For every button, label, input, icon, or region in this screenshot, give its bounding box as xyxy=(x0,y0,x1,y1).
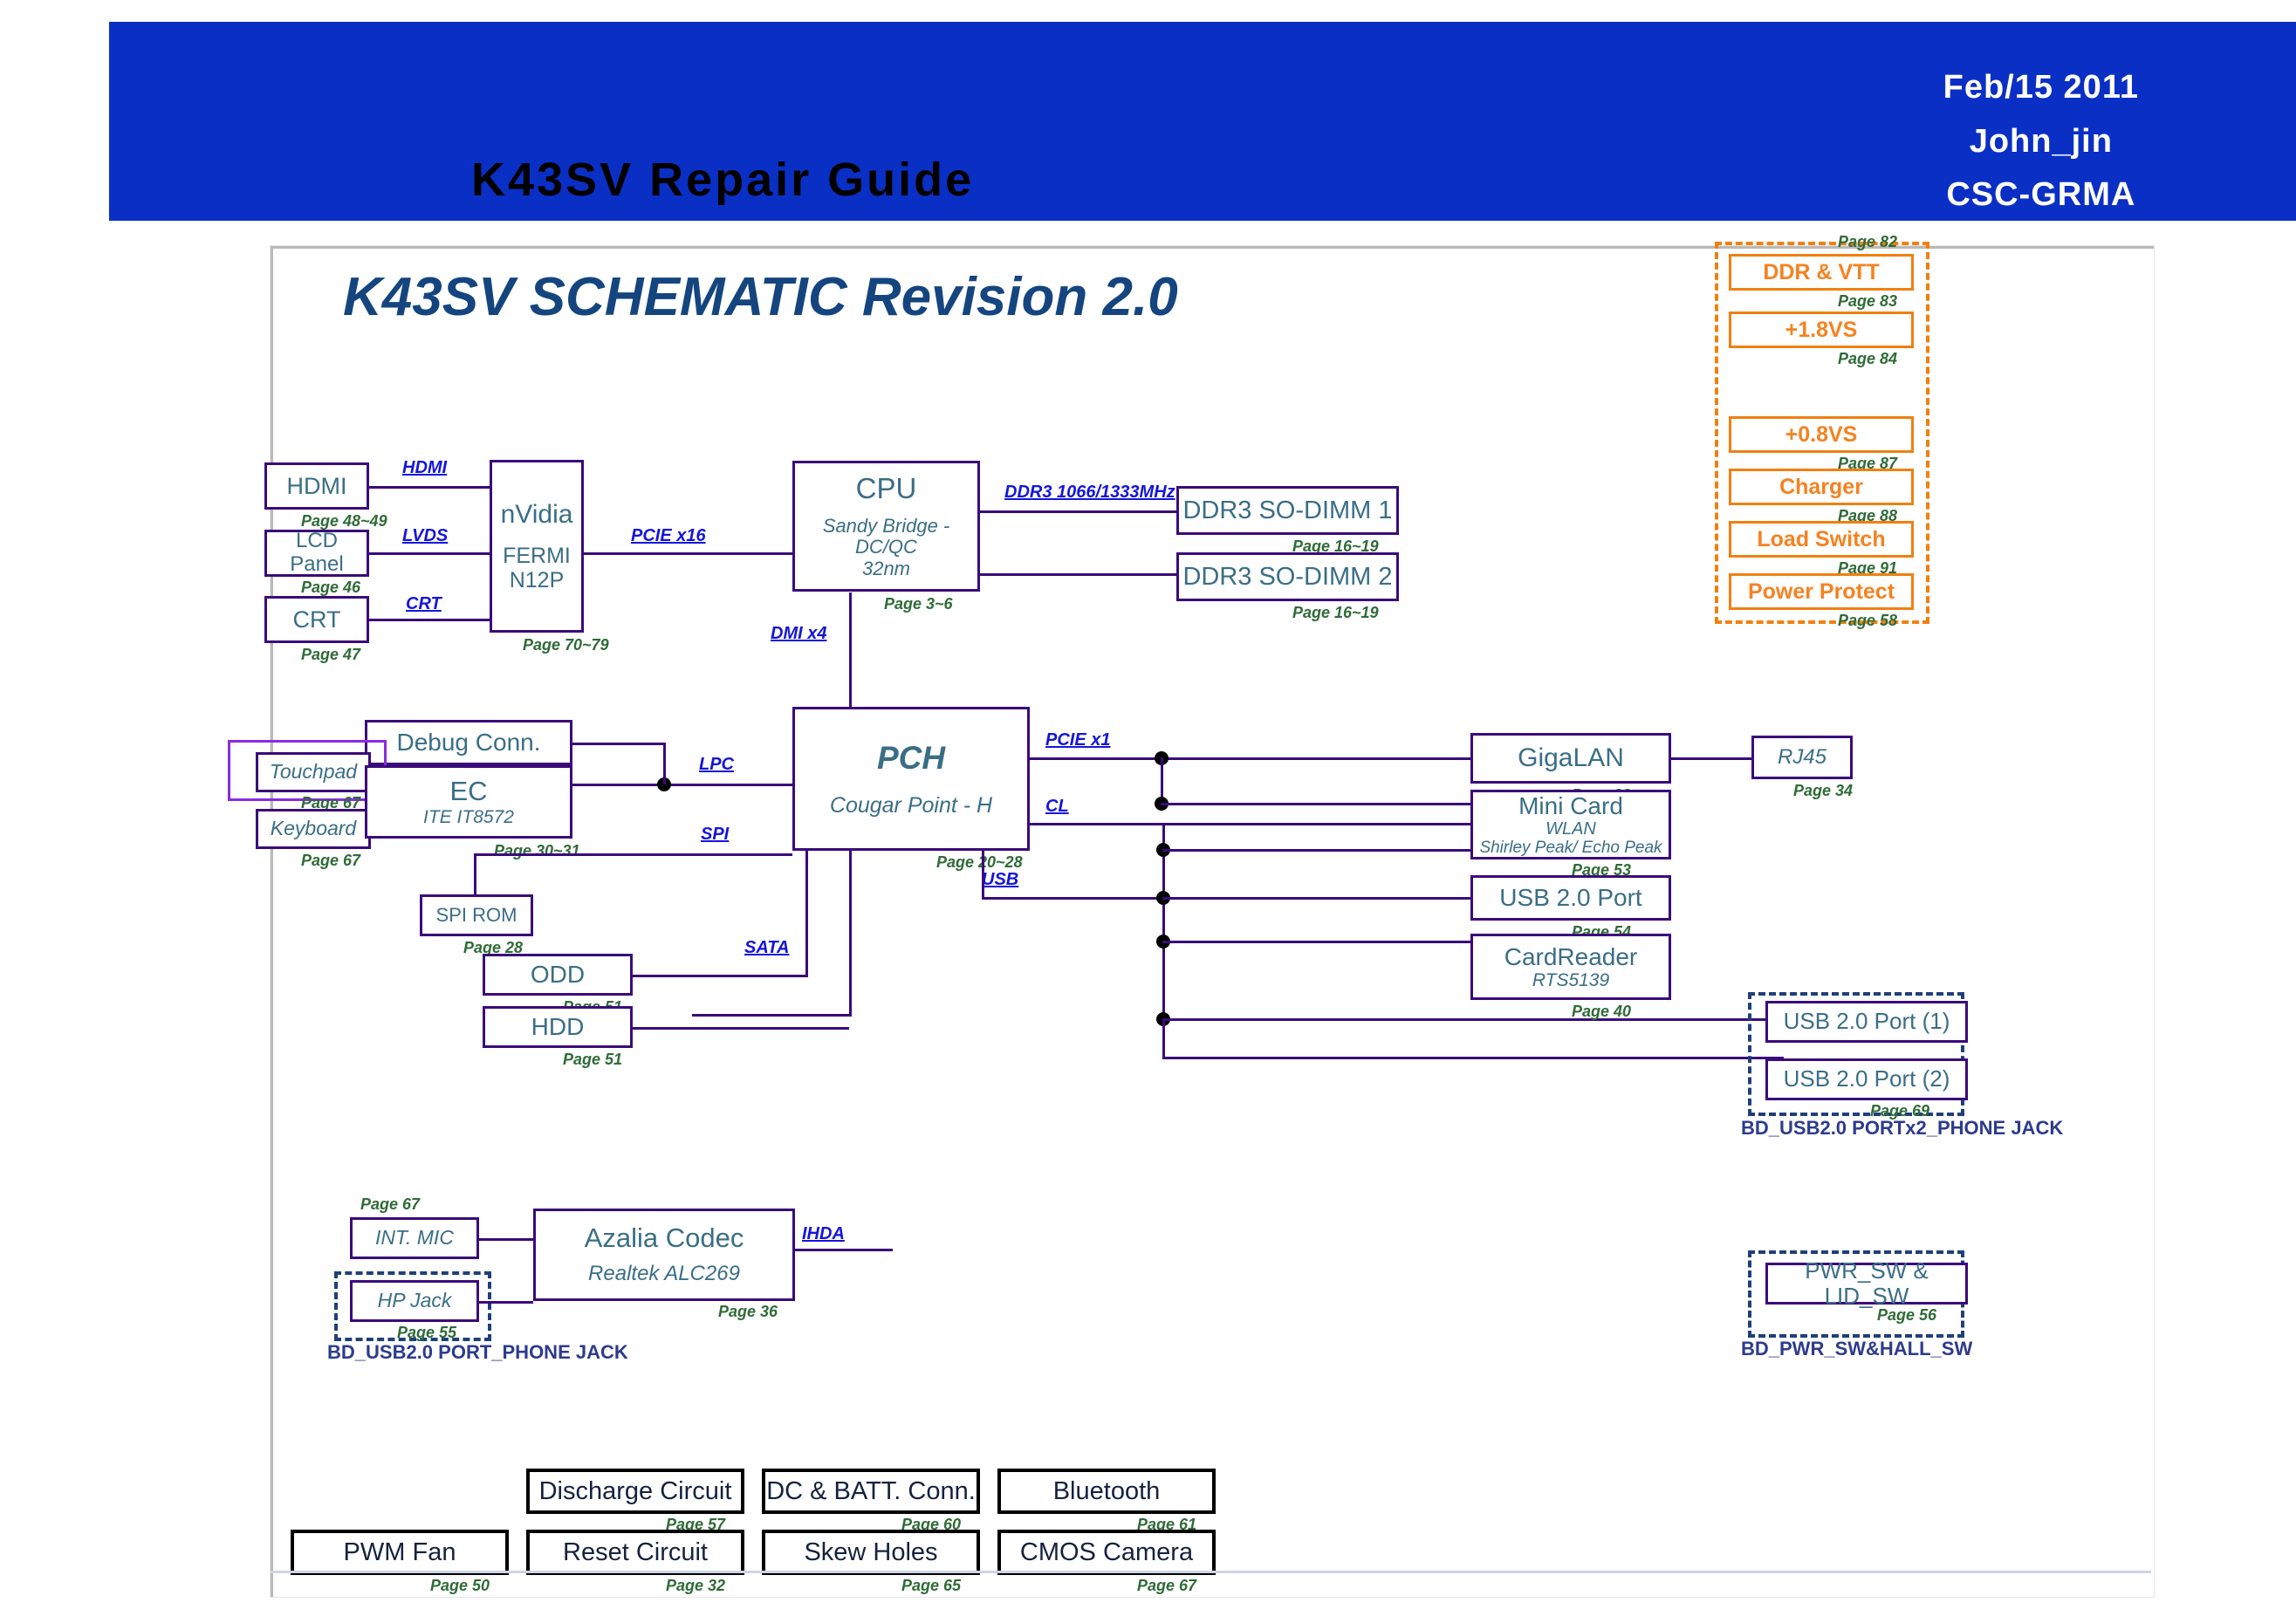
block-cpu-label: CPU xyxy=(856,473,917,505)
block-rj45-label: RJ45 xyxy=(1778,746,1827,770)
block-cardreader-sub1: RTS5139 xyxy=(1532,970,1609,991)
page-cmos-camera: Page 67 xyxy=(1137,1577,1196,1595)
page-int-mic: Page 67 xyxy=(360,1195,420,1214)
block-cpu-sub1: Sandy Bridge - DC/QC xyxy=(795,516,977,558)
block-hdd[interactable]: HDD xyxy=(483,1006,633,1048)
block-cardreader-label: CardReader xyxy=(1504,943,1638,970)
group-label-usb-phone-jack: BD_USB2.0 PORT_PHONE JACK xyxy=(327,1341,628,1364)
page-power-protect: Page 58 xyxy=(1838,612,1897,630)
block-lcd-panel[interactable]: LCD Panel xyxy=(264,530,369,577)
signal-ddr3: DDR3 1066/1333MHz xyxy=(1004,483,1175,503)
block-int-mic-label: INT. MIC xyxy=(375,1227,454,1250)
block-bluetooth-label: Bluetooth xyxy=(1053,1477,1161,1505)
wire-sata-v1 xyxy=(849,851,852,1017)
signal-cl: CL xyxy=(1045,797,1069,817)
block-dc-batt-conn-label: DC & BATT. Conn. xyxy=(766,1477,976,1505)
group-label-pwr-sw-hall-sw: BD_PWR_SW&HALL_SW xyxy=(1741,1338,1972,1360)
page-ec: Page 30~31 xyxy=(494,842,580,860)
wire-crt-gpu xyxy=(369,619,490,621)
page-keyboard: Page 67 xyxy=(301,852,360,870)
wire-spi-h xyxy=(474,853,792,856)
wire-debug-lpc-v xyxy=(663,743,666,784)
block-pch-label: PCH xyxy=(877,740,945,776)
wire-sata-hdd xyxy=(692,1014,851,1017)
block-rj45[interactable]: RJ45 xyxy=(1751,736,1853,779)
canvas-bottom-rule xyxy=(271,1571,2151,1573)
block-usb-port-2-label: USB 2.0 Port (2) xyxy=(1784,1066,1950,1092)
block-ec-sub1: ITE IT8572 xyxy=(423,807,514,828)
block-skew-holes[interactable]: Skew Holes xyxy=(762,1530,980,1575)
schematic-title: K43SV SCHEMATIC Revision 2.0 xyxy=(343,266,1178,328)
block-bluetooth[interactable]: Bluetooth xyxy=(997,1469,1216,1514)
block-spi-rom[interactable]: SPI ROM xyxy=(420,894,533,936)
page-pwr-sw: Page 56 xyxy=(1877,1306,1936,1325)
block-dimm2-label: DDR3 SO-DIMM 2 xyxy=(1182,563,1392,591)
block-keyboard[interactable]: Keyboard xyxy=(256,809,371,849)
power-block-charger[interactable]: Charger xyxy=(1729,469,1914,505)
block-mini-card-label: Mini Card xyxy=(1518,792,1623,819)
block-hdmi[interactable]: HDMI xyxy=(264,462,369,510)
block-pch-sub1: Cougar Point - H xyxy=(830,793,992,818)
page-azalia-codec: Page 36 xyxy=(718,1303,778,1321)
block-debug-conn[interactable]: Debug Conn. xyxy=(365,720,572,765)
block-odd-label: ODD xyxy=(531,961,585,988)
group-label-usb-phone-jack-x2: BD_USB2.0 PORTx2_PHONE JACK xyxy=(1741,1117,2063,1140)
block-odd[interactable]: ODD xyxy=(483,954,633,996)
wire-spi-v xyxy=(474,853,476,894)
page-cpu: Page 3~6 xyxy=(884,595,953,613)
block-pwm-fan[interactable]: PWM Fan xyxy=(291,1530,509,1575)
signal-lpc: LPC xyxy=(699,755,734,775)
wire-hdd-sata xyxy=(633,1027,849,1030)
block-reset-circuit[interactable]: Reset Circuit xyxy=(526,1530,744,1575)
signal-sata: SATA xyxy=(744,938,789,958)
power-block-0v8vs-label: +0.8VS xyxy=(1785,422,1858,447)
block-hp-jack-label: HP Jack xyxy=(378,1290,452,1312)
block-mini-card-sub1: WLAN xyxy=(1546,819,1596,839)
block-ddr3-sodimm-2[interactable]: DDR3 SO-DIMM 2 xyxy=(1176,552,1399,601)
power-block-ddr-vtt-label: DDR & VTT xyxy=(1763,260,1879,284)
header-author: John_jin xyxy=(1943,115,2139,169)
block-ec[interactable]: EC ITE IT8572 xyxy=(365,765,572,839)
block-nvidia-label: nVidia xyxy=(501,500,573,530)
wire-sata-v2 xyxy=(805,851,808,977)
block-hdmi-label: HDMI xyxy=(287,473,347,499)
block-nvidia-sub2: N12P xyxy=(510,568,565,592)
block-mini-card[interactable]: Mini Card WLAN Shirley Peak/ Echo Peak xyxy=(1470,790,1671,859)
wire-hpjack-codec xyxy=(479,1301,533,1304)
page-lcd-panel: Page 46 xyxy=(301,579,360,597)
block-usb-port-label: USB 2.0 Port xyxy=(1499,884,1641,911)
signal-dmi-x4: DMI x4 xyxy=(771,624,826,644)
wire-pcie-minicard xyxy=(1161,803,1470,805)
block-reset-circuit-label: Reset Circuit xyxy=(563,1538,708,1566)
block-hp-jack[interactable]: HP Jack xyxy=(350,1280,479,1322)
wire-cl-minicard xyxy=(1030,823,1470,825)
page-hdmi: Page 48~49 xyxy=(301,512,387,531)
block-int-mic[interactable]: INT. MIC xyxy=(350,1217,479,1259)
header-banner: K43SV Repair Guide Feb/15 2011 John_jin … xyxy=(109,22,2296,221)
block-cardreader[interactable]: CardReader RTS5139 xyxy=(1470,934,1671,1000)
header-meta: Feb/15 2011 John_jin CSC-GRMA xyxy=(1943,61,2139,223)
wire-lcd-gpu xyxy=(369,552,490,555)
power-block-0v8vs[interactable]: +0.8VS xyxy=(1729,416,1914,453)
wire-gigalan-rj45 xyxy=(1671,757,1751,760)
page-rj45: Page 34 xyxy=(1793,782,1853,800)
block-cpu-sub2: 32nm xyxy=(862,558,910,580)
power-block-load-switch[interactable]: Load Switch xyxy=(1729,521,1914,558)
block-touchpad-label: Touchpad xyxy=(270,761,357,784)
block-crt-label: CRT xyxy=(292,606,340,633)
wire-cpu-dimm1 xyxy=(980,510,1176,513)
block-discharge-circuit-label: Discharge Circuit xyxy=(539,1477,732,1505)
signal-lvds: LVDS xyxy=(402,526,448,546)
signal-spi: SPI xyxy=(701,825,729,845)
wire-ec-pch-lpc xyxy=(572,784,792,786)
page-1v8vs: Page 84 xyxy=(1838,350,1897,368)
page-crt: Page 47 xyxy=(301,646,360,664)
block-usb-port-1-label: USB 2.0 Port (1) xyxy=(1784,1009,1950,1034)
block-discharge-circuit[interactable]: Discharge Circuit xyxy=(526,1469,744,1514)
block-usb-port[interactable]: USB 2.0 Port xyxy=(1470,875,1671,921)
wire-gpu-cpu xyxy=(583,552,792,555)
power-block-power-protect-label: Power Protect xyxy=(1748,579,1895,604)
block-debug-conn-label: Debug Conn. xyxy=(396,729,540,756)
wire-hdmi-gpu xyxy=(369,486,490,489)
power-block-1v8vs[interactable]: +1.8VS xyxy=(1729,312,1914,348)
header-date: Feb/15 2011 xyxy=(1943,61,2139,115)
block-skew-holes-label: Skew Holes xyxy=(804,1538,937,1566)
block-hdd-label: HDD xyxy=(531,1013,585,1040)
block-nvidia-sub1: FERMI xyxy=(503,544,571,568)
power-block-ddr-vtt[interactable]: DDR & VTT xyxy=(1729,254,1914,291)
block-nvidia-gpu[interactable]: nVidia FERMI N12P xyxy=(490,460,584,633)
page-reset-circuit: Page 32 xyxy=(666,1577,725,1595)
wire-cpu-dimm2 xyxy=(980,573,1176,576)
block-spi-rom-label: SPI ROM xyxy=(436,905,517,927)
block-pwr-sw-lid-sw[interactable]: PWR_SW & LID_SW xyxy=(1765,1263,1968,1305)
block-crt[interactable]: CRT xyxy=(264,596,369,643)
signal-pcie-x16: PCIE x16 xyxy=(631,526,706,546)
page-pch: Page 20~28 xyxy=(936,853,1023,872)
page-dimm2: Page 16~19 xyxy=(1292,604,1379,622)
block-touchpad[interactable]: Touchpad xyxy=(256,752,371,792)
wire-debug-lpc-h xyxy=(572,743,666,745)
wire-usb-port xyxy=(1162,897,1470,900)
power-block-load-switch-label: Load Switch xyxy=(1757,527,1885,551)
block-cmos-camera-label: CMOS Camera xyxy=(1020,1538,1193,1566)
wire-usb-down xyxy=(982,851,984,900)
block-usb-port-2[interactable]: USB 2.0 Port (2) xyxy=(1765,1058,1968,1100)
page-ddr-vtt: Page 83 xyxy=(1838,292,1897,311)
signal-ihda: IHDA xyxy=(802,1224,845,1244)
signal-pcie-x1: PCIE x1 xyxy=(1045,730,1110,750)
power-block-power-protect[interactable]: Power Protect xyxy=(1729,573,1914,610)
block-ddr3-sodimm-1[interactable]: DDR3 SO-DIMM 1 xyxy=(1176,486,1399,535)
block-keyboard-label: Keyboard xyxy=(271,818,356,840)
block-usb-port-1[interactable]: USB 2.0 Port (1) xyxy=(1765,1001,1968,1043)
wire-usb-h xyxy=(982,897,1165,900)
block-azalia-codec[interactable]: Azalia Codec Realtek ALC269 xyxy=(533,1209,795,1301)
block-azalia-codec-label: Azalia Codec xyxy=(585,1223,744,1254)
page-nvidia: Page 70~79 xyxy=(523,636,609,654)
block-gigalan[interactable]: GigaLAN xyxy=(1470,733,1671,784)
block-lcd-panel-label: LCD Panel xyxy=(267,530,367,577)
wire-intmic-codec xyxy=(479,1238,533,1241)
block-dimm1-label: DDR3 SO-DIMM 1 xyxy=(1182,496,1392,524)
block-dc-batt-conn[interactable]: DC & BATT. Conn. xyxy=(762,1469,980,1514)
wire-codec-pch xyxy=(795,1249,893,1251)
power-block-1v8vs-label: +1.8VS xyxy=(1785,318,1858,342)
wire-usb-port2 xyxy=(1162,1057,1784,1059)
block-mini-card-sub2: Shirley Peak/ Echo Peak xyxy=(1479,839,1662,857)
page-hdd: Page 51 xyxy=(563,1051,622,1069)
schematic-canvas: K43SV SCHEMATIC Revision 2.0 K43SV SCHEM… xyxy=(271,246,2154,1597)
block-ec-label: EC xyxy=(449,777,487,807)
block-pch[interactable]: PCH Cougar Point - H xyxy=(792,707,1030,851)
signal-hdmi: HDMI xyxy=(402,458,447,478)
page-skew-holes: Page 65 xyxy=(901,1577,961,1595)
power-block-charger-label: Charger xyxy=(1779,475,1863,499)
block-azalia-codec-sub1: Realtek ALC269 xyxy=(588,1263,740,1286)
block-cmos-camera[interactable]: CMOS Camera xyxy=(997,1530,1216,1575)
signal-usb: USB xyxy=(982,870,1018,890)
wire-usb-port2-v xyxy=(1162,1018,1165,1059)
page-pwm-fan: Page 50 xyxy=(430,1577,490,1595)
block-pwr-sw-lid-sw-label: PWR_SW & LID_SW xyxy=(1768,1258,1965,1309)
wire-odd-sata xyxy=(633,975,805,977)
wire-usb-port1 xyxy=(1162,1018,1784,1021)
block-gigalan-label: GigaLAN xyxy=(1518,743,1624,773)
wire-usb-mini xyxy=(1162,849,1470,852)
page-cardreader: Page 40 xyxy=(1572,1003,1631,1021)
block-cpu[interactable]: CPU Sandy Bridge - DC/QC 32nm xyxy=(792,461,980,592)
signal-crt: CRT xyxy=(406,594,442,614)
block-pwm-fan-label: PWM Fan xyxy=(344,1538,456,1566)
page-power-top: Page 82 xyxy=(1838,233,1897,251)
wire-usb-cardreader xyxy=(1162,941,1470,943)
page-hp-jack: Page 55 xyxy=(397,1324,456,1342)
page-title: K43SV Repair Guide xyxy=(471,153,974,207)
header-org: CSC-GRMA xyxy=(1943,168,2139,223)
wire-pcie-gigalan xyxy=(1030,757,1470,760)
